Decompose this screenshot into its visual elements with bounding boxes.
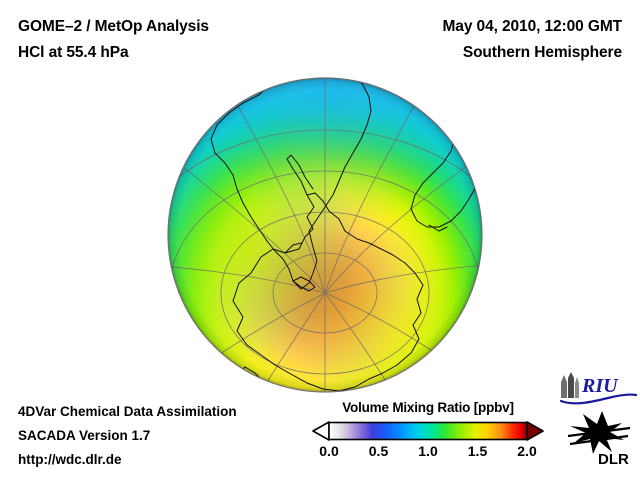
header-right-block: May 04, 2010, 12:00 GMT Southern Hemisph…: [443, 14, 623, 66]
globe-map: [167, 77, 483, 393]
hemisphere-label: Southern Hemisphere: [443, 40, 623, 66]
colorbar-tick-label: 0.0: [319, 443, 338, 459]
dlr-wordmark: DLR: [598, 451, 629, 468]
coastline-australia: [355, 389, 445, 393]
riu-tower-icon: [561, 372, 579, 398]
colorbar-swatch: [312, 420, 544, 442]
colorbar-ticks: 0.00.51.01.52.0: [312, 443, 544, 463]
colorbar-title: Volume Mixing Ratio [ppbv]: [312, 400, 544, 415]
species-level-subtitle: HCl at 55.4 hPa: [18, 40, 209, 66]
version-label: SACADA Version 1.7: [18, 424, 237, 448]
url-label[interactable]: http://wdc.dlr.de: [18, 448, 237, 472]
riu-logo: RIU: [558, 372, 638, 406]
analysis-title: GOME–2 / MetOp Analysis: [18, 14, 209, 40]
header-left-block: GOME–2 / MetOp Analysis HCl at 55.4 hPa: [18, 14, 209, 66]
colorbar-extend-high: [527, 422, 543, 440]
method-label: 4DVar Chemical Data Assimilation: [18, 400, 237, 424]
colorbar-tick-label: 2.0: [517, 443, 536, 459]
colorbar-tick-label: 1.0: [418, 443, 437, 459]
datetime-label: May 04, 2010, 12:00 GMT: [443, 14, 623, 40]
colorbar-tick-label: 0.5: [369, 443, 388, 459]
colorbar-tick-label: 1.5: [468, 443, 487, 459]
dlr-logo: DLR: [562, 410, 636, 468]
globe-limb-shading: [168, 78, 482, 392]
footer-credits-block: 4DVar Chemical Data Assimilation SACADA …: [18, 400, 237, 472]
coastline-new-zealand-south: [265, 389, 285, 393]
orthographic-projection-svg: [167, 77, 483, 393]
colorbar-extend-low: [313, 422, 329, 440]
colorbar-gradient-bar: [329, 423, 527, 440]
colorbar-block: Volume Mixing Ratio [ppbv] 0.00.51.01.52…: [312, 400, 544, 463]
riu-wordmark: RIU: [581, 375, 619, 397]
